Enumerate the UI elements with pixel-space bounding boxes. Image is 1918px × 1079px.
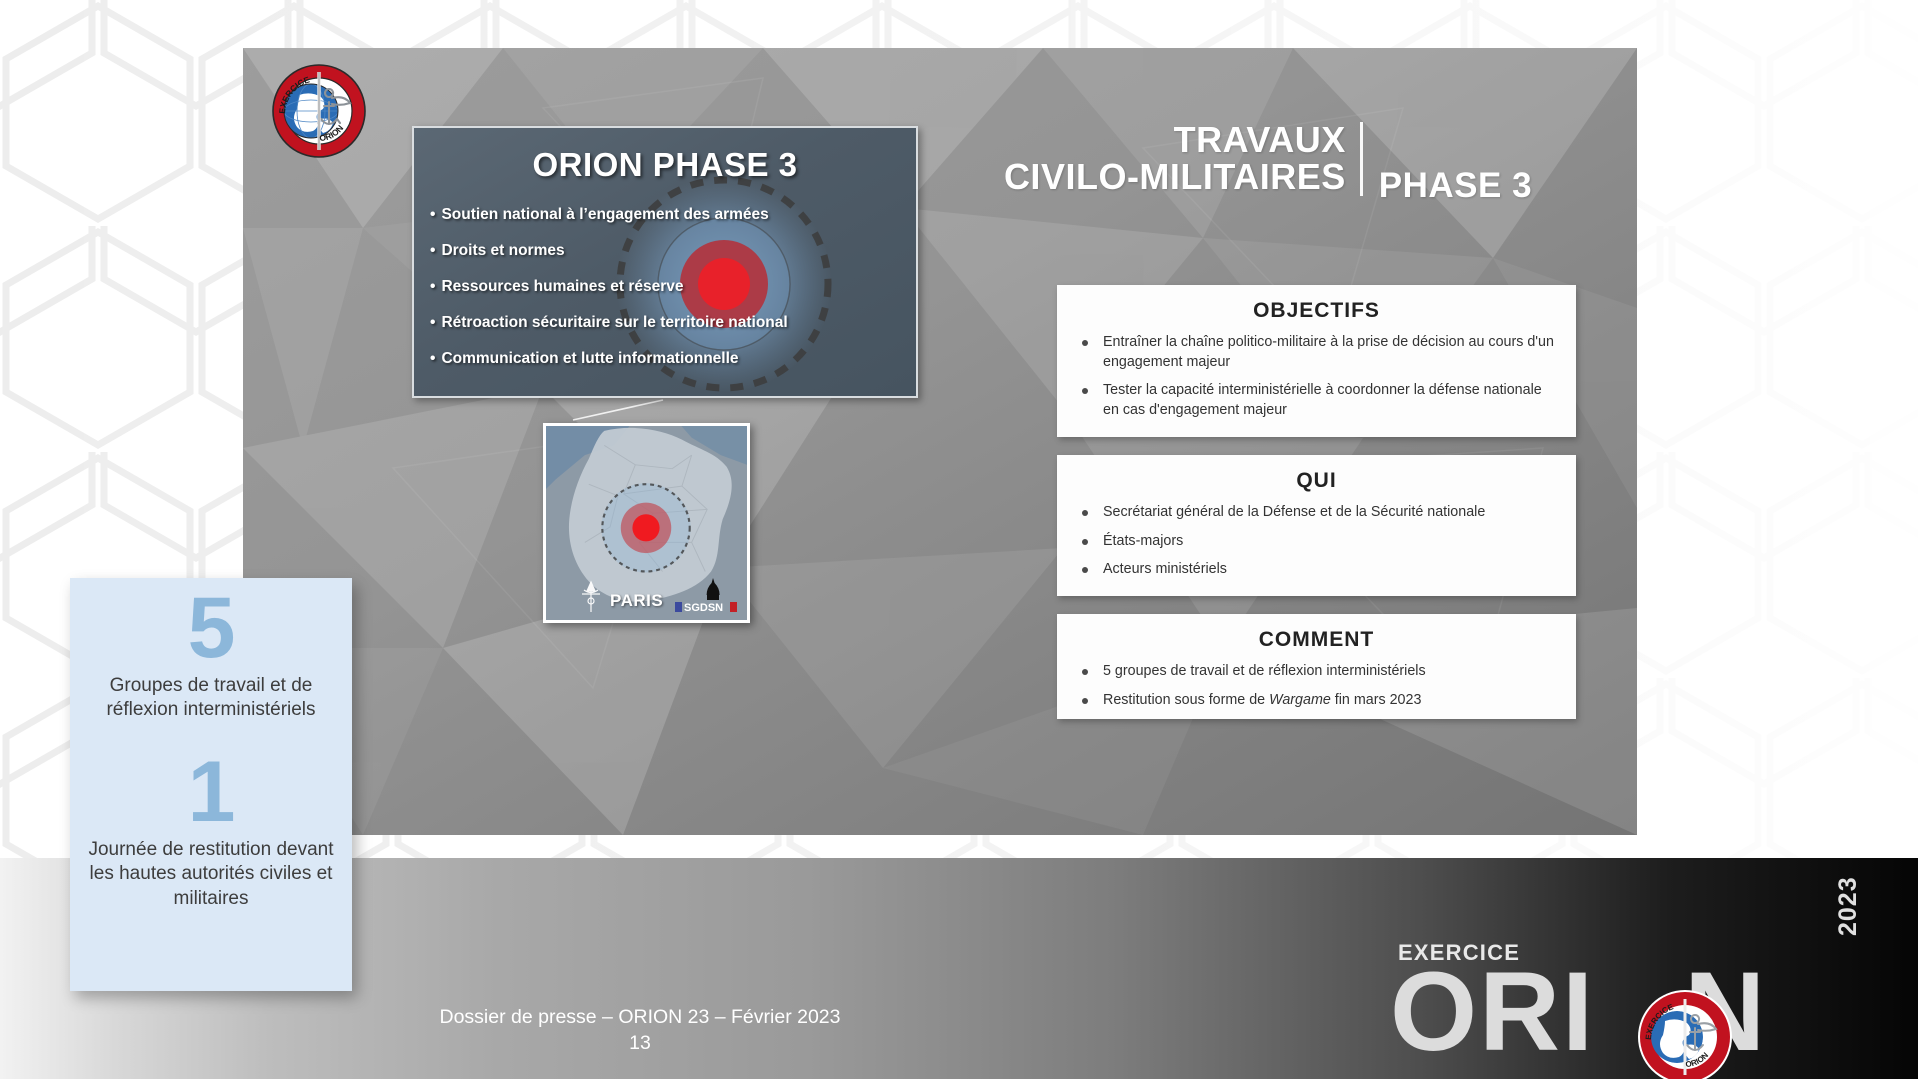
card-item-list: Entraîner la chaîne politico-militaire à… [1077, 333, 1556, 421]
phase-bullet-item: •Ressources humaines et réserve [430, 278, 916, 296]
footer-source-text: Dossier de presse – ORION 23 – Février 2… [0, 1003, 1280, 1032]
header-title-line2: CIVILO-MILITAIRES [1004, 159, 1346, 196]
phase-bullet-item: •Soutien national à l’engagement des arm… [430, 206, 916, 224]
presentation-slide: EXERCICE ORION [243, 48, 1637, 835]
header-phase-label: PHASE 3 [1363, 166, 1532, 214]
card-item-list: Secrétariat général de la Défense et de … [1077, 503, 1556, 580]
card-list-item: Entraîner la chaîne politico-militaire à… [1077, 333, 1556, 372]
compass-rose-icon [578, 580, 604, 614]
phase-bullet-item: •Droits et normes [430, 242, 916, 260]
phase-bullet-item: •Communication et lutte informationnelle [430, 350, 916, 368]
phase-bullet-text: Soutien national à l’engagement des armé… [441, 206, 768, 223]
svg-text:SGDSN: SGDSN [684, 602, 723, 614]
header-title: TRAVAUX CIVILO-MILITAIRES [1004, 122, 1360, 195]
phase-bullet-text: Communication et lutte informationnelle [441, 350, 738, 367]
card-list-item: 5 groupes de travail et de réflexion int… [1077, 662, 1556, 682]
brand-year-label: 2023 [1834, 876, 1863, 936]
header-divider [1360, 122, 1363, 196]
map-city-label: PARIS [610, 591, 663, 611]
phase-bullet-text: Ressources humaines et réserve [441, 278, 683, 295]
card-title: OBJECTIFS [1077, 299, 1556, 323]
phase-bullet-text: Droits et normes [441, 242, 564, 259]
france-map-inset: SGDSN PARIS [543, 423, 750, 623]
stat-number: 5 [70, 588, 352, 670]
card-list-item: Acteurs ministériels [1077, 560, 1556, 580]
phase-panel-bullet-list: •Soutien national à l’engagement des arm… [430, 206, 916, 368]
stat-caption: Journée de restitution devant les hautes… [70, 838, 352, 911]
stat-caption: Groupes de travail et de réflexion inter… [70, 674, 352, 723]
phase-panel-title: ORION PHASE 3 [414, 146, 916, 184]
card-title: COMMENT [1077, 628, 1556, 652]
card-qui: QUI Secrétariat général de la Défense et… [1057, 455, 1576, 596]
header-title-line1: TRAVAUX [1004, 122, 1346, 159]
phase-bullet-item: •Rétroaction sécuritaire sur le territoi… [430, 314, 916, 332]
card-objectifs: OBJECTIFS Entraîner la chaîne politico-m… [1057, 285, 1576, 437]
phase-bullet-text: Rétroaction sécuritaire sur le territoir… [441, 314, 787, 331]
statistics-callout-box: 5 Groupes de travail et de réflexion int… [70, 578, 352, 991]
orion-exercise-logo-icon: EXERCICE ORION [1635, 987, 1735, 1079]
slide-page: EXERCICE ORION [0, 0, 1918, 1079]
card-comment: COMMENT 5 groupes de travail et de réfle… [1057, 614, 1576, 719]
orion-phase-3-panel: ORION PHASE 3 •Soutien national à l’enga… [412, 126, 918, 398]
card-list-item: Restitution sous forme de Wargame fin ma… [1077, 691, 1556, 711]
sgdsn-logo-icon: SGDSN [673, 576, 739, 614]
card-list-item: Secrétariat général de la Défense et de … [1077, 503, 1556, 523]
card-list-item: États-majors [1077, 532, 1556, 552]
card-list-item: Tester la capacité interministérielle à … [1077, 381, 1556, 420]
brand-orion-part1: ORI [1390, 949, 1595, 1074]
card-item-list: 5 groupes de travail et de réflexion int… [1077, 662, 1556, 710]
slide-right-header: TRAVAUX CIVILO-MILITAIRES PHASE 3 [943, 104, 1593, 214]
orion-brand-lockup: EXERCICE ORION EXERCICE [1382, 920, 1902, 1060]
card-title: QUI [1077, 469, 1556, 493]
orion-exercise-logo-icon: EXERCICE ORION [269, 61, 369, 161]
footer-page-number: 13 [0, 1032, 1280, 1055]
stat-number: 1 [70, 752, 352, 834]
